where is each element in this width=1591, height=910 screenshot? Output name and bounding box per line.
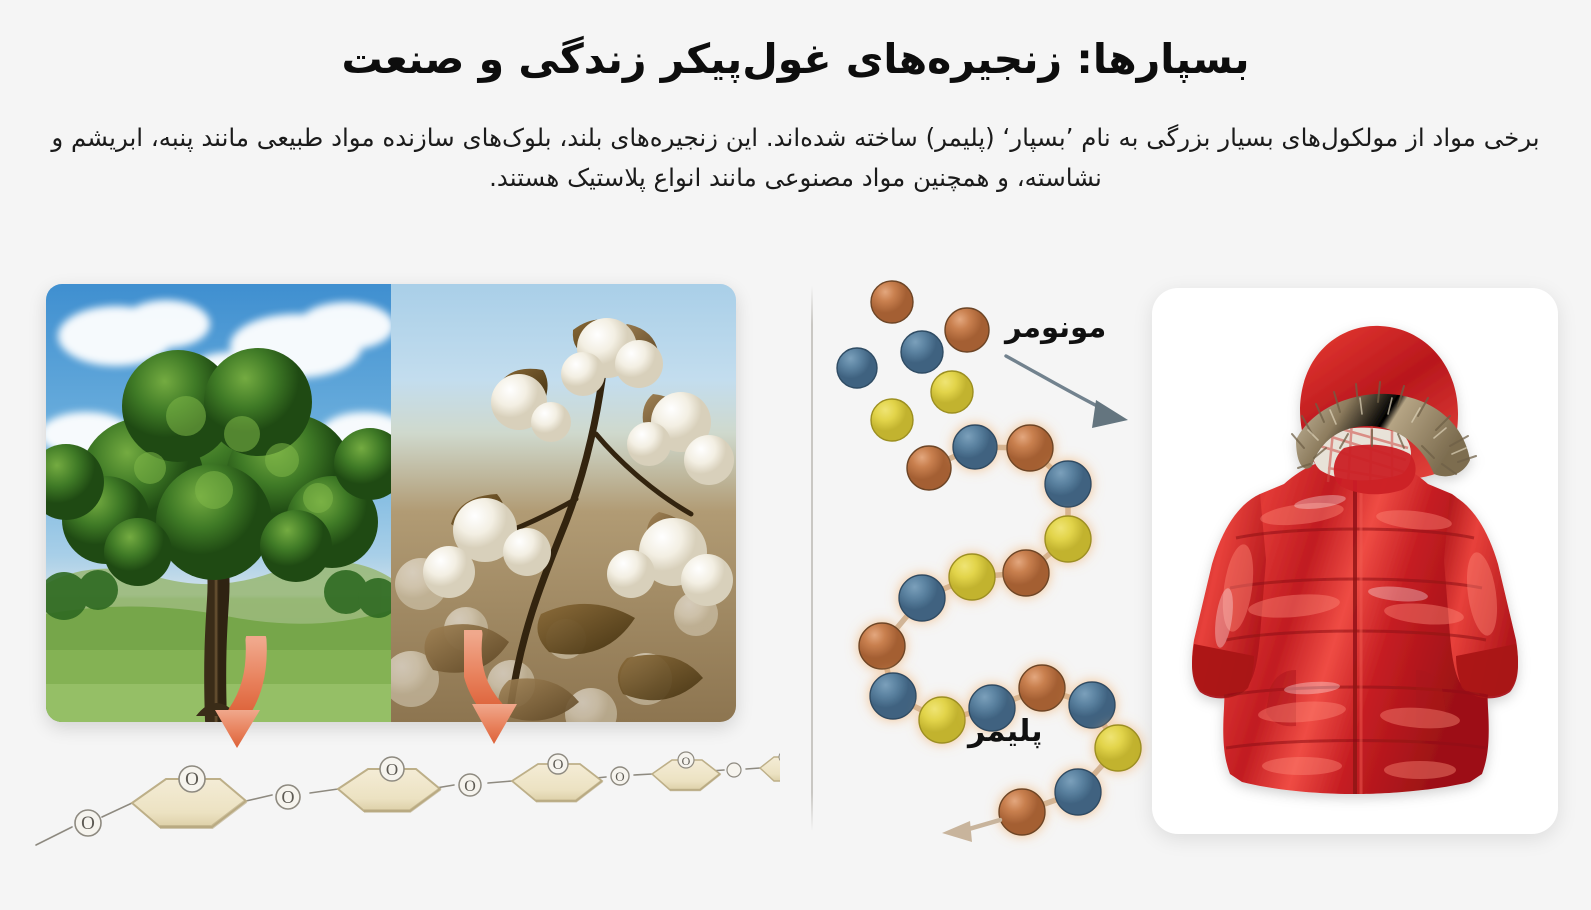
pyranose-ring: O	[652, 752, 720, 790]
monomer-to-polymer-arrow	[1006, 356, 1128, 428]
cellulose-chain-diagram: O O O O O O O O	[20, 735, 780, 870]
svg-text:O: O	[81, 813, 95, 834]
pyranose-ring	[760, 751, 780, 781]
svg-text:O: O	[615, 769, 624, 784]
tree-to-cellulose-arrow	[464, 630, 534, 750]
page-body-text: برخی مواد از مولکول‌های بسیار بزرگی به ن…	[28, 118, 1563, 199]
cotton-field-photo	[391, 284, 736, 722]
svg-text:O: O	[386, 760, 398, 779]
svg-text:O: O	[282, 787, 295, 807]
cotton-field-art	[391, 284, 736, 722]
monomer-label: مونومر	[1005, 310, 1106, 344]
svg-text:O: O	[185, 769, 199, 790]
svg-text:O: O	[553, 757, 564, 773]
red-puffer-jacket-photo	[1152, 288, 1558, 834]
product-card	[1152, 288, 1558, 834]
polymer-chain-continues-arrow	[942, 820, 1000, 842]
pyranose-ring: O	[132, 766, 246, 827]
monomer-cluster	[837, 281, 989, 441]
polymer-label: پلیمر	[968, 714, 1043, 749]
puffer-jacket-art	[1152, 288, 1558, 834]
source-materials-photo-panel	[46, 284, 736, 722]
page-title: بسپارها: زنجیره‌های غول‌پیکر زندگی و صنع…	[0, 34, 1591, 85]
section-divider	[811, 286, 813, 831]
svg-text:O: O	[682, 754, 691, 768]
pyranose-ring: O	[338, 757, 440, 811]
polymer-chain	[859, 425, 1141, 835]
pyranose-ring: O	[512, 754, 602, 801]
svg-text:O: O	[464, 778, 476, 795]
infographic-canvas: بسپارها: زنجیره‌های غول‌پیکر زندگی و صنع…	[0, 0, 1591, 910]
monomer-polymer-diagram	[830, 280, 1160, 850]
